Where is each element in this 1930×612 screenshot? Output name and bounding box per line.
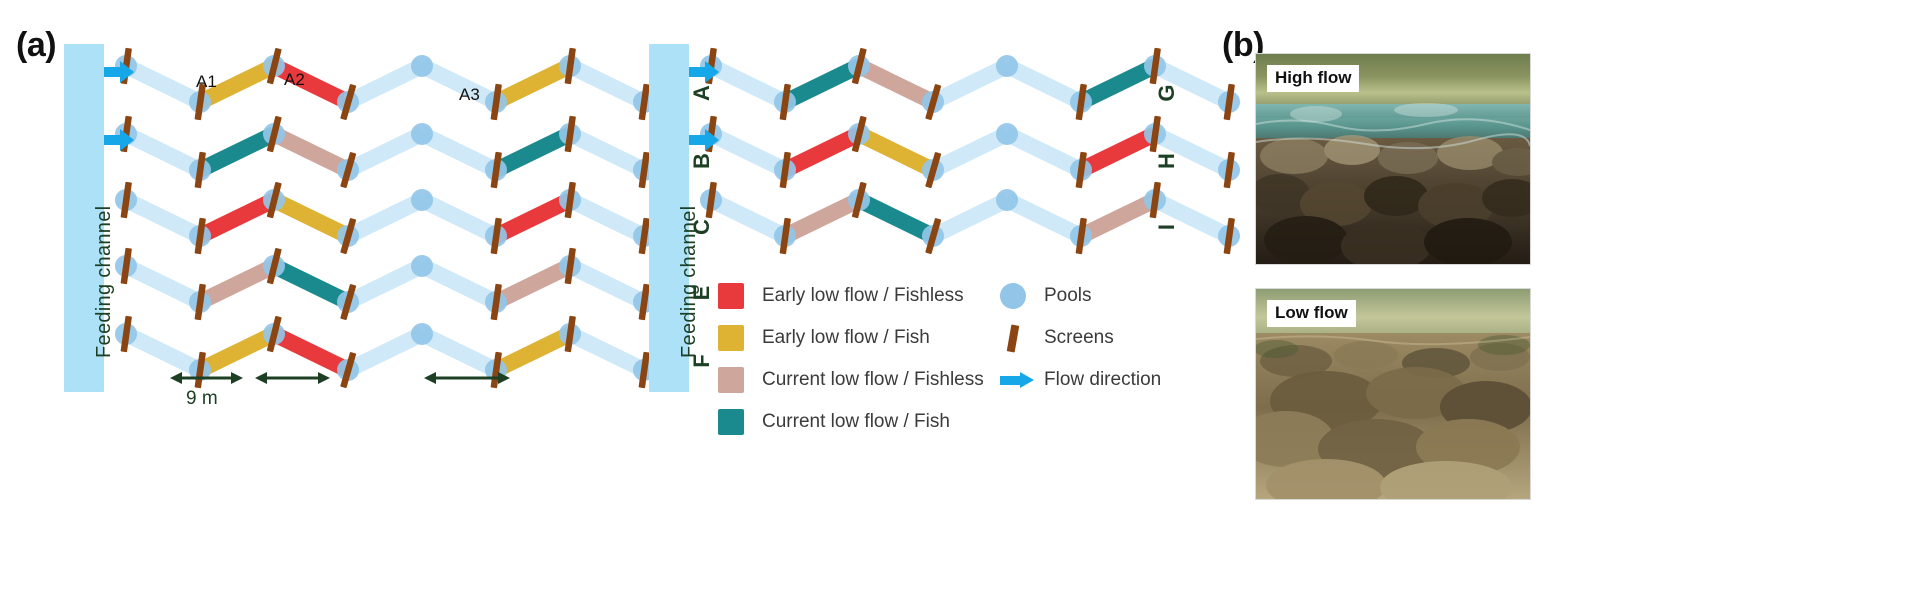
- photo-low-flow: Low flow: [1255, 288, 1531, 500]
- channel-segment-B-6: [496, 134, 570, 170]
- legend-item-label: Current low flow / Fish: [762, 411, 950, 433]
- channel-segment-F-5: [422, 334, 496, 370]
- channel-segment-B-4: [348, 134, 422, 170]
- channel-segment-C-1: [126, 200, 200, 236]
- pool: [411, 323, 433, 345]
- legend-item-label: Early low flow / Fishless: [762, 285, 964, 307]
- left-flume-diagram: [0, 0, 660, 470]
- pool: [411, 255, 433, 277]
- channel-segment-G-1: [711, 66, 785, 102]
- legend-item: Current low flow / Fish: [718, 404, 1188, 440]
- channel-segment-H-3: [859, 134, 933, 170]
- pool: [996, 189, 1018, 211]
- legend-item-label: Early low flow / Fish: [762, 327, 930, 349]
- screen-icon: [1007, 324, 1020, 352]
- flume-row-B: [115, 116, 655, 189]
- legend-item-label: Pools: [1044, 285, 1092, 307]
- flume-row-C: [115, 182, 655, 255]
- photo-high-flow: High flow: [1255, 53, 1531, 265]
- pool-icon: [1000, 283, 1026, 309]
- flume-row-E: [115, 248, 655, 321]
- legend-color-swatch: [718, 409, 744, 435]
- legend-column-symbols: PoolsScreensFlow direction: [1000, 278, 1220, 404]
- legend-color-swatch: [718, 283, 744, 309]
- legend-color-swatch: [718, 367, 744, 393]
- legend-item-label: Current low flow / Fishless: [762, 369, 984, 391]
- scale-bar-label: 9 m: [186, 388, 218, 410]
- right-flume-diagram: [600, 0, 1160, 280]
- channel-segment-G-4: [933, 66, 1007, 102]
- channel-segment-G-6: [1081, 66, 1155, 102]
- channel-segment-H-5: [1007, 134, 1081, 170]
- legend-item-label: Flow direction: [1044, 369, 1161, 391]
- channel-segment-F-7: [570, 334, 644, 370]
- flow-arrows-left: [104, 61, 134, 151]
- channel-segment-F-6: [496, 334, 570, 370]
- pool: [996, 123, 1018, 145]
- channel-segment-I-3: [859, 200, 933, 236]
- figure-root: (a) (b) Feeding channel A B C E F A1 A2 …: [0, 0, 1930, 612]
- pool: [411, 189, 433, 211]
- row-label-I: I: [1154, 215, 1180, 239]
- channel-segment-A-6: [496, 66, 570, 102]
- pool: [996, 55, 1018, 77]
- channel-segment-I-2: [785, 200, 859, 236]
- flow-arrows-right: [689, 61, 719, 151]
- channel-segment-B-1: [126, 134, 200, 170]
- channel-segment-H-4: [933, 134, 1007, 170]
- channel-segment-I-6: [1081, 200, 1155, 236]
- channel-segment-E-3: [274, 266, 348, 302]
- legend-item-label: Screens: [1044, 327, 1114, 349]
- channel-segment-A-1: [126, 66, 200, 102]
- channel-segment-F-3: [274, 334, 348, 370]
- channel-segment-C-3: [274, 200, 348, 236]
- channel-segment-F-4: [348, 334, 422, 370]
- legend-item: Pools: [1000, 278, 1220, 314]
- channel-segment-A-4: [348, 66, 422, 102]
- channel-segment-E-1: [126, 266, 200, 302]
- channel-segment-E-2: [200, 266, 274, 302]
- channel-segment-C-4: [348, 200, 422, 236]
- channel-segment-H-1: [711, 134, 785, 170]
- row-label-H: H: [1154, 149, 1180, 173]
- channel-segment-I-5: [1007, 200, 1081, 236]
- row-label-G: G: [1154, 81, 1180, 105]
- channel-segment-E-6: [496, 266, 570, 302]
- channel-segment-G-2: [785, 66, 859, 102]
- channel-segment-G-3: [859, 66, 933, 102]
- channel-segment-I-1: [711, 200, 785, 236]
- flow-arrow-icon: [1000, 372, 1034, 388]
- channel-segment-E-4: [348, 266, 422, 302]
- segment-label-a3: A3: [459, 85, 480, 105]
- channel-segment-I-4: [933, 200, 1007, 236]
- channel-segment-F-1: [126, 334, 200, 370]
- channel-segment-H-6: [1081, 134, 1155, 170]
- channel-segment-B-2: [200, 134, 274, 170]
- channel-segment-E-5: [422, 266, 496, 302]
- legend-item: Flow direction: [1000, 362, 1220, 398]
- channel-segment-C-5: [422, 200, 496, 236]
- pool: [411, 123, 433, 145]
- channel-segment-C-2: [200, 200, 274, 236]
- segment-label-a2: A2: [284, 70, 305, 90]
- channel-segment-H-2: [785, 134, 859, 170]
- channel-segment-C-6: [496, 200, 570, 236]
- channel-segment-G-5: [1007, 66, 1081, 102]
- channel-segment-B-5: [422, 134, 496, 170]
- photo-high-flow-caption: High flow: [1267, 65, 1359, 92]
- photo-low-flow-caption: Low flow: [1267, 300, 1356, 327]
- channel-segment-F-2: [200, 334, 274, 370]
- segment-label-a1: A1: [196, 72, 217, 92]
- pool: [411, 55, 433, 77]
- legend-item: Screens: [1000, 320, 1220, 356]
- channel-segment-B-3: [274, 134, 348, 170]
- legend-color-swatch: [718, 325, 744, 351]
